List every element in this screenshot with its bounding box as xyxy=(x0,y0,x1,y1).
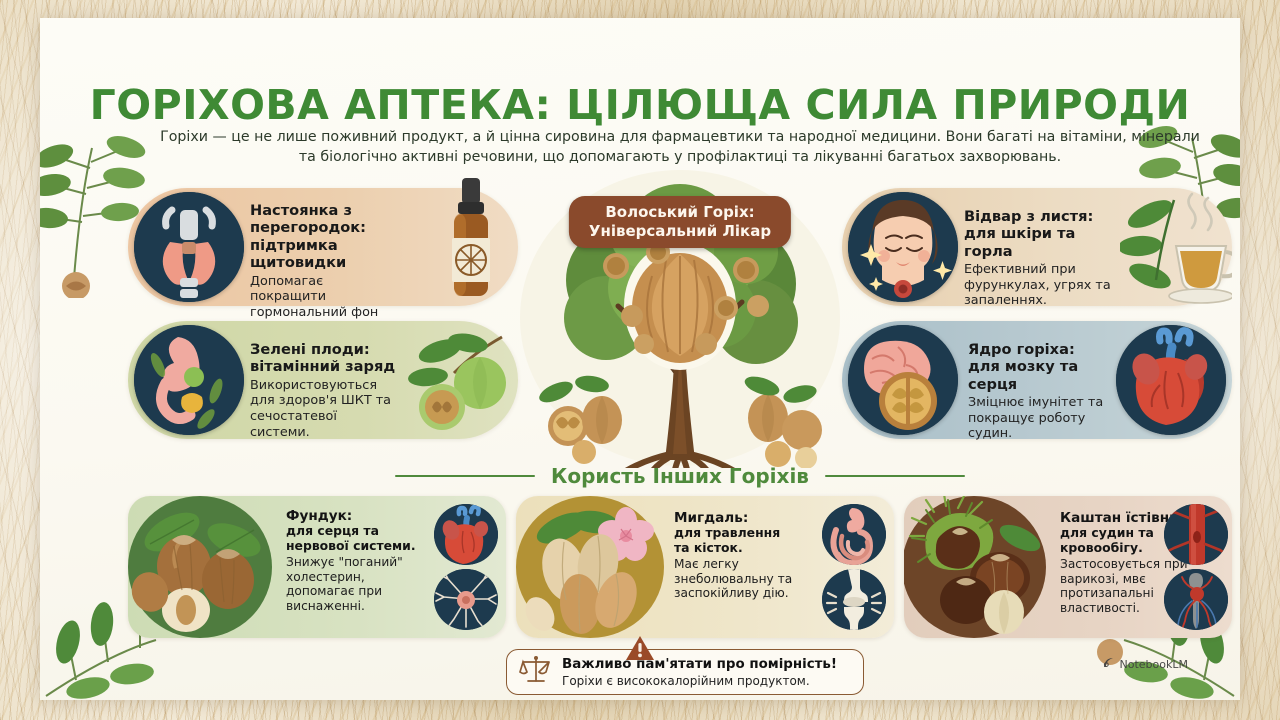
almonds-blossom-illustration xyxy=(516,496,668,638)
heart-icon xyxy=(1116,325,1226,435)
moderation-note-heading: Важливо пам'ятати про помірність! xyxy=(562,657,851,673)
hazelnuts-illustration xyxy=(128,496,280,638)
center-badge: Волоський Горіх: Універсальний Лікар xyxy=(569,196,791,248)
notebooklm-watermark: NotebookLM xyxy=(1102,656,1188,672)
card-leaf-decoction-body: Ефективний при фурункулах, угрях та запа… xyxy=(964,262,1122,309)
section-divider: Користь Інших Горіхів xyxy=(128,461,1232,491)
woman-face-icon xyxy=(848,192,958,302)
tea-cup-icon xyxy=(1120,188,1232,310)
intestines-icon xyxy=(822,504,886,565)
card-leaf-decoction[interactable]: Відвар з листя: для шкіри та горла Ефект… xyxy=(842,188,1232,306)
center-badge-line2: Універсальний Лікар xyxy=(589,222,771,241)
poster-card: ГОРІХОВА АПТЕКА: ЦІЛЮЩА СИЛА ПРИРОДИ Гор… xyxy=(40,18,1240,700)
divider-label: Користь Інших Горіхів xyxy=(551,464,809,488)
balance-scales-icon xyxy=(519,654,553,690)
card-almond-subtitle-2: та кісток. xyxy=(674,541,808,556)
knee-joint-icon xyxy=(822,569,886,630)
card-tincture-heading-2: перегородок: xyxy=(250,219,400,236)
blood-vessel-icon xyxy=(1164,504,1228,565)
infographic-poster: ГОРІХОВА АПТЕКА: ЦІЛЮЩА СИЛА ПРИРОДИ Гор… xyxy=(0,0,1280,720)
card-hazelnut-subtitle-1: для серця та xyxy=(286,524,420,539)
card-almond-body: Має легку знеболювальну та заспокійливу … xyxy=(674,557,808,601)
card-kernel-heading-2: для мозку та серця xyxy=(968,358,1128,393)
card-leaf-decoction-heading-2: для шкіри та горла xyxy=(964,225,1122,260)
moderation-note-text: Важливо пам'ятати про помірність! Горіхи… xyxy=(562,657,851,688)
card-almond-title: Мигдаль: xyxy=(674,510,808,526)
card-hazelnut-subtitle-2: нервової системи. xyxy=(286,539,420,554)
divider-line-right xyxy=(825,475,965,477)
card-hazelnut-title: Фундук: xyxy=(286,508,420,524)
card-tincture-heading-3: підтримка щитовидки xyxy=(250,237,400,272)
card-almond-subtitle-1: для травлення xyxy=(674,526,808,541)
card-tincture-text: Настоянка з перегородок: підтримка щитов… xyxy=(250,202,400,336)
moderation-note: Важливо пам'ятати про помірність! Горіхи… xyxy=(506,649,864,695)
divider-line-left xyxy=(395,475,535,477)
circulatory-system-icon xyxy=(1164,569,1228,630)
card-tincture[interactable]: Настоянка з перегородок: підтримка щитов… xyxy=(128,188,518,306)
card-hazelnut-orbs xyxy=(434,504,498,630)
card-hazelnut-text: Фундук: для серця та нервової системи. З… xyxy=(286,508,420,614)
card-green-fruits-text: Зелені плоди: вітамінний заряд Використо… xyxy=(250,341,400,440)
center-badge-line1: Волоський Горіх: xyxy=(589,203,771,222)
notebooklm-label: NotebookLM xyxy=(1120,658,1188,671)
card-kernel-body: Зміцнює імунітет та покращує роботу суди… xyxy=(968,395,1128,442)
card-kernel-text: Ядро горіха: для мозку та серця Зміцнює … xyxy=(968,341,1128,442)
card-almond[interactable]: Мигдаль: для травлення та кісток. Має ле… xyxy=(516,496,894,638)
moderation-note-body: Горіхи є висококалорійним продуктом. xyxy=(562,674,851,688)
card-green-fruits[interactable]: Зелені плоди: вітамінний заряд Використо… xyxy=(128,321,518,439)
page-title: ГОРІХОВА АПТЕКА: ЦІЛЮЩА СИЛА ПРИРОДИ xyxy=(40,81,1240,129)
card-hazelnut-body: Знижує "поганий" холестерин, допомагає п… xyxy=(286,555,420,613)
card-chestnut[interactable]: Каштан їстівний: для судин та кровообігу… xyxy=(904,496,1232,638)
card-tincture-heading-1: Настоянка з xyxy=(250,202,400,219)
card-green-fruits-body: Використовуються для здоров'я ШКТ та сеч… xyxy=(250,378,400,440)
card-kernel[interactable]: Ядро горіха: для мозку та серця Зміцнює … xyxy=(842,321,1232,439)
card-almond-orbs xyxy=(822,504,886,630)
warning-triangle-icon xyxy=(625,635,655,665)
card-leaf-decoction-text: Відвар з листя: для шкіри та горла Ефект… xyxy=(964,208,1122,309)
dropper-bottle-icon xyxy=(434,176,508,310)
card-almond-text: Мигдаль: для травлення та кісток. Має ле… xyxy=(674,510,808,601)
card-chestnut-orbs xyxy=(1164,504,1228,630)
walnut-tree-illustration: Волоський Горіх: Універсальний Лікар xyxy=(510,168,850,468)
chestnuts-illustration xyxy=(904,496,1056,638)
card-green-fruits-heading-1: Зелені плоди: xyxy=(250,341,400,358)
card-hazelnut[interactable]: Фундук: для серця та нервової системи. З… xyxy=(128,496,506,638)
page-subtitle: Горіхи — це не лише поживний продукт, а … xyxy=(150,127,1210,167)
brain-walnut-icon xyxy=(848,325,958,435)
card-green-fruits-heading-2: вітамінний заряд xyxy=(250,358,400,375)
neuron-icon xyxy=(434,569,498,630)
notebooklm-icon xyxy=(1102,656,1115,672)
heart-icon xyxy=(434,504,498,565)
green-walnut-branch-icon xyxy=(406,325,514,439)
card-kernel-heading-1: Ядро горіха: xyxy=(968,341,1128,358)
thyroid-gland-icon xyxy=(134,192,244,302)
stomach-bladder-icon xyxy=(134,325,244,435)
card-leaf-decoction-heading-1: Відвар з листя: xyxy=(964,208,1122,225)
